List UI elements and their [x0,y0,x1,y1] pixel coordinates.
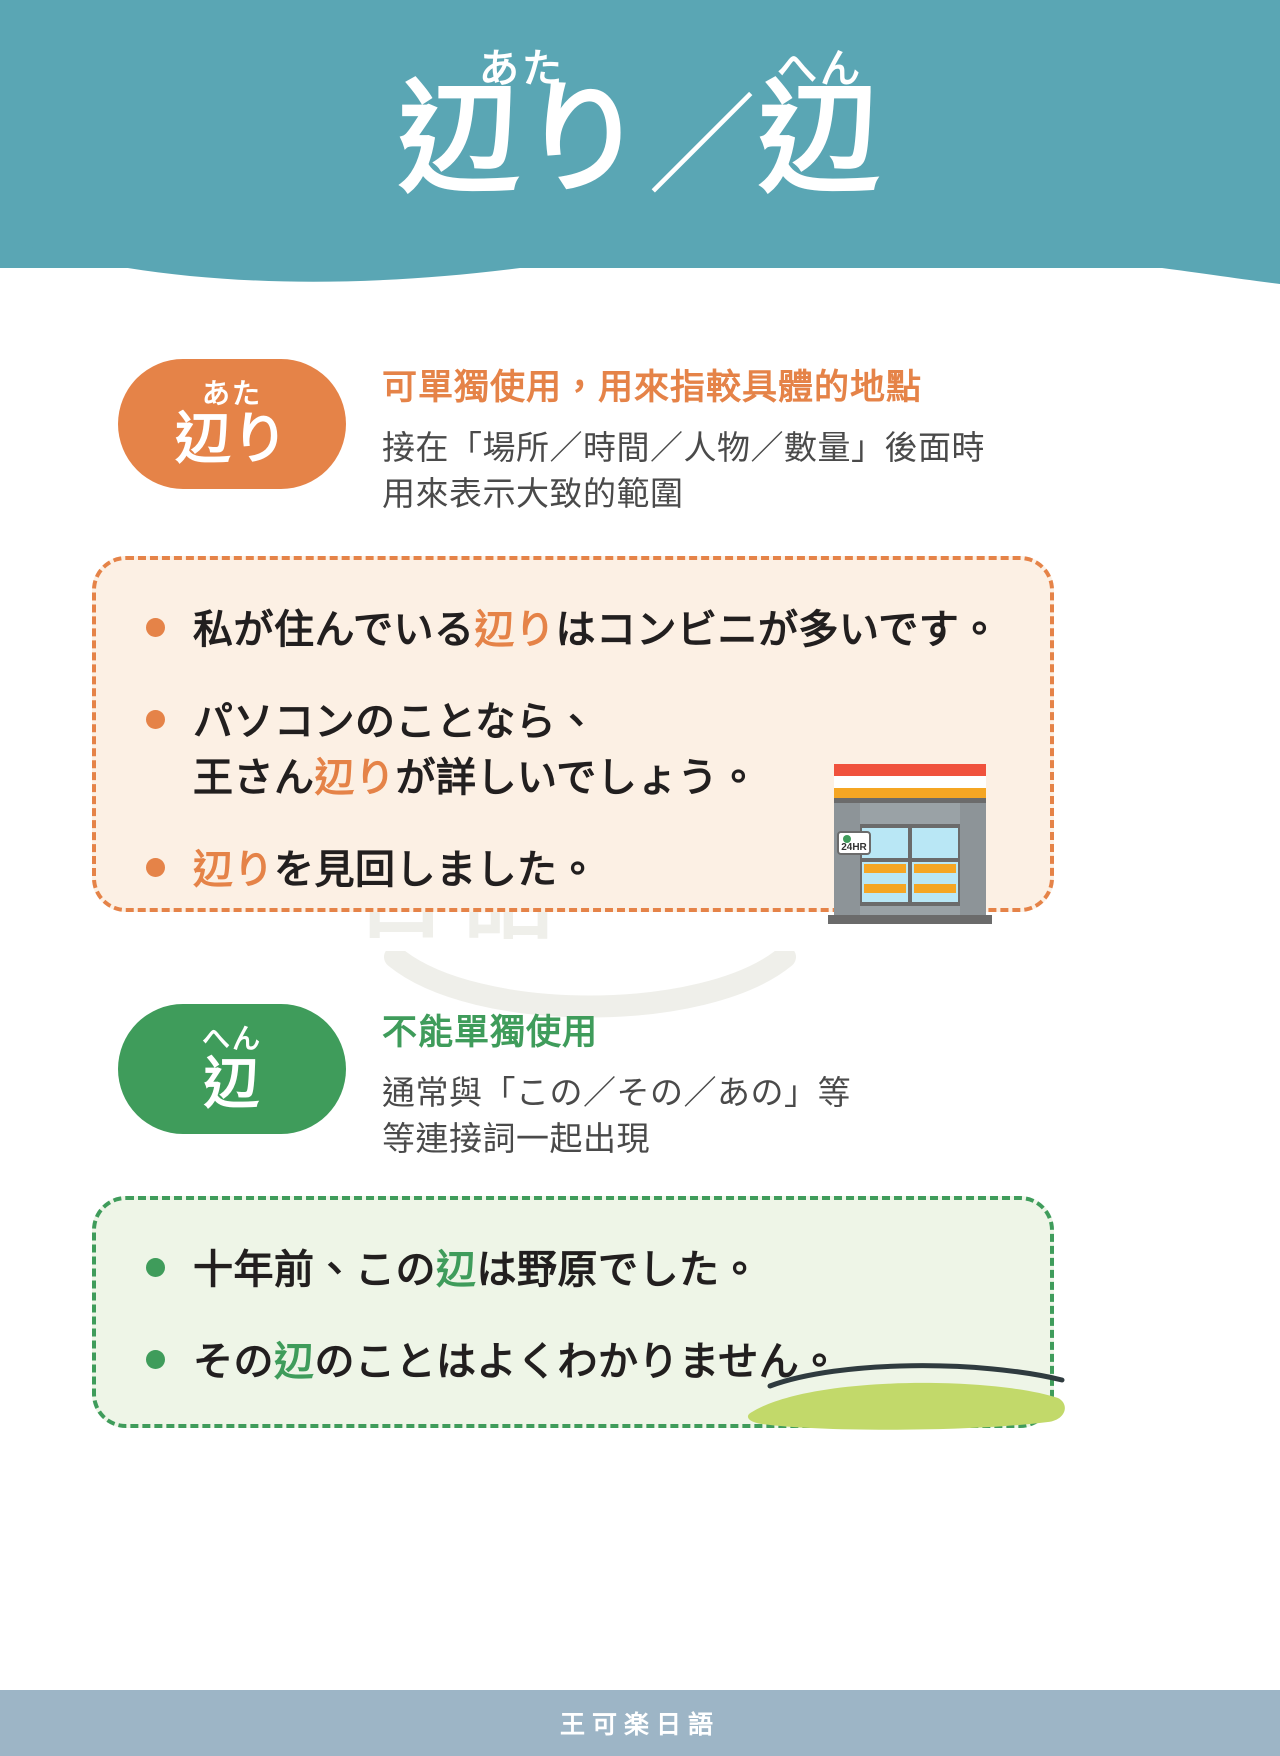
badge-atari-furigana: あた [202,380,262,408]
store-sign-label: 24HR [841,842,867,853]
example-sentence: 私が住んでいる辺りはコンビニが多いです。 [193,602,1000,658]
section-atari-desc-line-1: 接在「場所／時間／人物／數量」後面時 [382,425,985,472]
example-fragment: パソコンのことなら、 [193,700,597,744]
example-keyword: 辺り [475,608,556,652]
example-item: 私が住んでいる辺りはコンビニが多いです。 [146,602,1000,658]
header-wave-decoration [0,238,1280,300]
bullet-icon [146,1350,165,1369]
title-furigana-atari: あた [479,36,565,94]
badge-hen-furigana: へん [202,1025,262,1053]
bullet-icon [146,858,165,877]
example-keyword: 辺り [315,756,396,800]
badge-hen: へん 辺 [118,1004,346,1134]
section-hen-desc-line-2: 等連接詞一起出現 [382,1116,851,1163]
section-atari-text: 可單獨使用，用來指較具體的地點 接在「場所／時間／人物／數量」後面時 用來表示大… [382,355,985,518]
bullet-icon [146,618,165,637]
title-separator-slash: ／ [646,92,758,200]
example-sentence: パソコンのことなら、王さん辺りが詳しいでしょう。 [193,694,759,806]
example-fragment: 私が住んでいる [193,608,475,652]
example-fragment: が詳しいでしょう。 [396,756,759,800]
title-word-hen: へん 辺 [758,34,882,200]
badge-hen-main: 辺 [204,1055,261,1114]
section-hen-text: 不能單獨使用 通常與「この／その／あの」等 等連接詞一起出現 [382,1000,851,1163]
example-item: 十年前、この辺は野原でした。 [146,1242,1000,1298]
badge-atari: あた 辺り [118,359,346,489]
title-furigana-hen: へん [777,36,863,94]
footer-bar: 王可楽日語 [0,1690,1280,1756]
example-keyword: 辺り [193,848,274,892]
convenience-store-illustration: 24HR [820,760,1000,930]
example-fragment: はコンビニが多いです。 [556,608,1000,652]
example-fragment: 王さん [193,756,315,800]
poster-page: あた 辺り ／ へん 辺 王可楽 日語 あた 辺り 可單 [0,0,1280,1756]
section-hen-title: 不能單獨使用 [382,1010,851,1056]
example-fragment: その [193,1340,274,1384]
grass-doodle-illustration [740,1358,1080,1438]
section-atari-desc-line-2: 用來表示大致的範圍 [382,471,985,518]
example-keyword: 辺 [436,1248,477,1292]
section-atari-title: 可單獨使用，用來指較具體的地點 [382,365,985,411]
section-atari: あた 辺り 可單獨使用，用來指較具體的地點 接在「場所／時間／人物／數量」後面時… [0,355,1280,518]
bullet-icon [146,1258,165,1277]
example-fragment: は野原でした。 [477,1248,761,1292]
example-sentence: 十年前、この辺は野原でした。 [193,1242,760,1298]
header-banner: あた 辺り ／ へん 辺 [0,0,1280,300]
example-keyword: 辺 [274,1340,315,1384]
section-hen-header: へん 辺 不能單獨使用 通常與「この／その／あの」等 等連接詞一起出現 [0,1000,1280,1163]
section-hen-desc-line-1: 通常與「この／その／あの」等 [382,1070,851,1117]
section-atari-header: あた 辺り 可單獨使用，用來指較具體的地點 接在「場所／時間／人物／數量」後面時… [0,355,1280,518]
example-fragment: 十年前、この [193,1248,436,1292]
page-title: あた 辺り ／ へん 辺 [0,34,1280,200]
badge-atari-main: 辺り [175,410,289,469]
section-hen: へん 辺 不能單獨使用 通常與「この／その／あの」等 等連接詞一起出現 [0,1000,1280,1163]
example-sentence: 辺りを見回しました。 [193,842,598,898]
bullet-icon [146,710,165,729]
example-fragment: を見回しました。 [274,848,598,892]
title-word-atari: あた 辺り [398,34,646,200]
footer-brand-text: 王可楽日語 [560,1705,720,1741]
